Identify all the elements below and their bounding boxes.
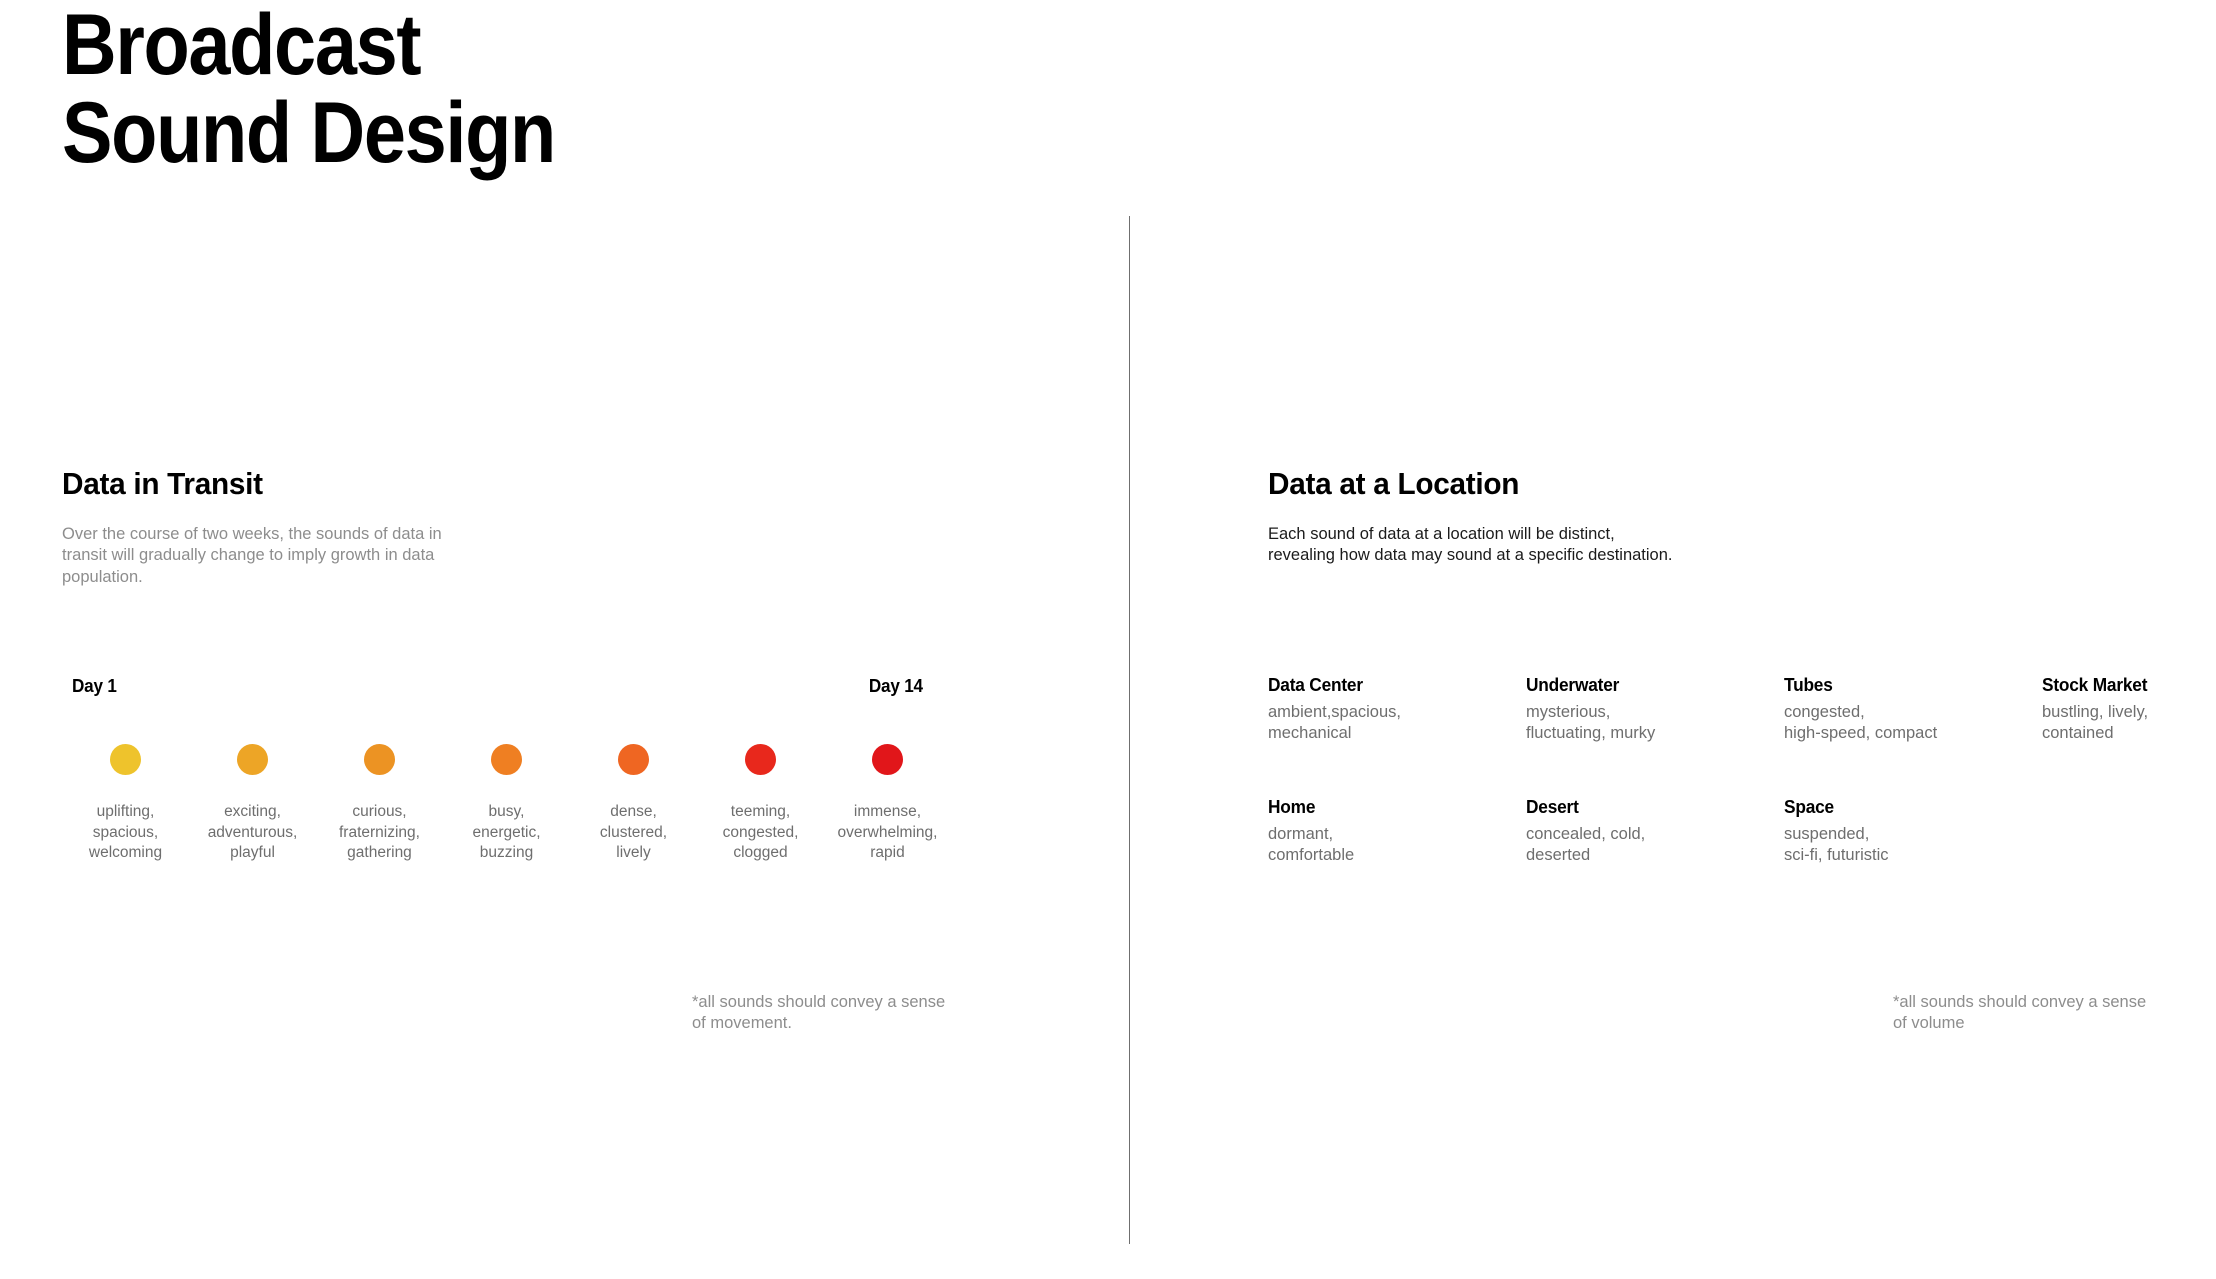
location-item-title: Stock Market xyxy=(2042,675,2216,696)
transit-dot-label: busy, energetic, buzzing xyxy=(472,802,540,864)
location-item-description: congested, high-speed, compact xyxy=(1784,702,2014,745)
location-item: Underwatermysterious, fluctuating, murky xyxy=(1526,675,1756,745)
location-item: Desertconcealed, cold, deserted xyxy=(1526,797,1756,867)
transit-dot-item: teeming, congested, clogged xyxy=(697,744,824,864)
transit-dot-item: dense, clustered, lively xyxy=(570,744,697,864)
transit-dot-label: teeming, congested, clogged xyxy=(723,802,799,864)
transit-dot-item: exciting, adventurous, playful xyxy=(189,744,316,864)
location-footnote: *all sounds should convey a sense of vol… xyxy=(1893,992,2146,1035)
data-at-location-section: Data at a Location Each sound of data at… xyxy=(1268,466,2168,567)
location-item-title: Tubes xyxy=(1784,675,2005,696)
day-end-label: Day 14 xyxy=(869,676,923,697)
transit-dot-item: uplifting, spacious, welcoming xyxy=(62,744,189,864)
location-item: Spacesuspended, sci-fi, futuristic xyxy=(1784,797,2014,867)
transit-dots-row: uplifting, spacious, welcomingexciting, … xyxy=(62,744,951,864)
day-start-label: Day 1 xyxy=(72,676,117,697)
transit-dot-label: curious, fraternizing, gathering xyxy=(339,802,420,864)
transit-dot-circle xyxy=(237,744,268,775)
location-item-description: dormant, comfortable xyxy=(1268,824,1498,867)
transit-dot-circle xyxy=(491,744,522,775)
data-at-location-heading: Data at a Location xyxy=(1268,466,2132,502)
page-title: Broadcast Sound Design xyxy=(62,2,555,177)
transit-footnote: *all sounds should convey a sense of mov… xyxy=(692,992,945,1035)
transit-dot-item: curious, fraternizing, gathering xyxy=(316,744,443,864)
data-in-transit-heading: Data in Transit xyxy=(62,466,1022,502)
transit-dot-circle xyxy=(110,744,141,775)
data-in-transit-description: Over the course of two weeks, the sounds… xyxy=(62,524,492,588)
transit-timeline: Day 1 Day 14 uplifting, spacious, welcom… xyxy=(62,676,982,864)
transit-dot-item: busy, energetic, buzzing xyxy=(443,744,570,864)
transit-dot-item: immense, overwhelming, rapid xyxy=(824,744,951,864)
transit-dot-label: exciting, adventurous, playful xyxy=(208,802,298,864)
transit-dot-circle xyxy=(618,744,649,775)
location-item: Homedormant, comfortable xyxy=(1268,797,1498,867)
transit-dot-label: uplifting, spacious, welcoming xyxy=(89,802,162,864)
location-item-description: mysterious, fluctuating, murky xyxy=(1526,702,1756,745)
transit-dot-label: immense, overwhelming, rapid xyxy=(838,802,938,864)
location-item-title: Space xyxy=(1784,797,2005,818)
location-item-description: concealed, cold, deserted xyxy=(1526,824,1756,867)
transit-dot-label: dense, clustered, lively xyxy=(600,802,667,864)
data-in-transit-section: Data in Transit Over the course of two w… xyxy=(62,466,1062,588)
location-item-description: suspended, sci-fi, futuristic xyxy=(1784,824,2014,867)
location-item-title: Data Center xyxy=(1268,675,1489,696)
vertical-divider xyxy=(1129,216,1130,1244)
data-at-location-description: Each sound of data at a location will be… xyxy=(1268,524,1828,567)
transit-dot-circle xyxy=(364,744,395,775)
location-item-description: bustling, lively, contained xyxy=(2042,702,2216,745)
timeline-day-labels: Day 1 Day 14 xyxy=(62,676,951,706)
location-item: Tubescongested, high-speed, compact xyxy=(1784,675,2014,745)
transit-dot-circle xyxy=(745,744,776,775)
location-item: Stock Marketbustling, lively, contained xyxy=(2042,675,2216,745)
transit-dot-circle xyxy=(872,744,903,775)
location-item-title: Home xyxy=(1268,797,1489,818)
location-item: Data Centerambient,spacious, mechanical xyxy=(1268,675,1498,745)
location-grid: Data Centerambient,spacious, mechanicalU… xyxy=(1268,675,2216,866)
location-item-title: Desert xyxy=(1526,797,1747,818)
location-item-title: Underwater xyxy=(1526,675,1747,696)
location-item-description: ambient,spacious, mechanical xyxy=(1268,702,1498,745)
